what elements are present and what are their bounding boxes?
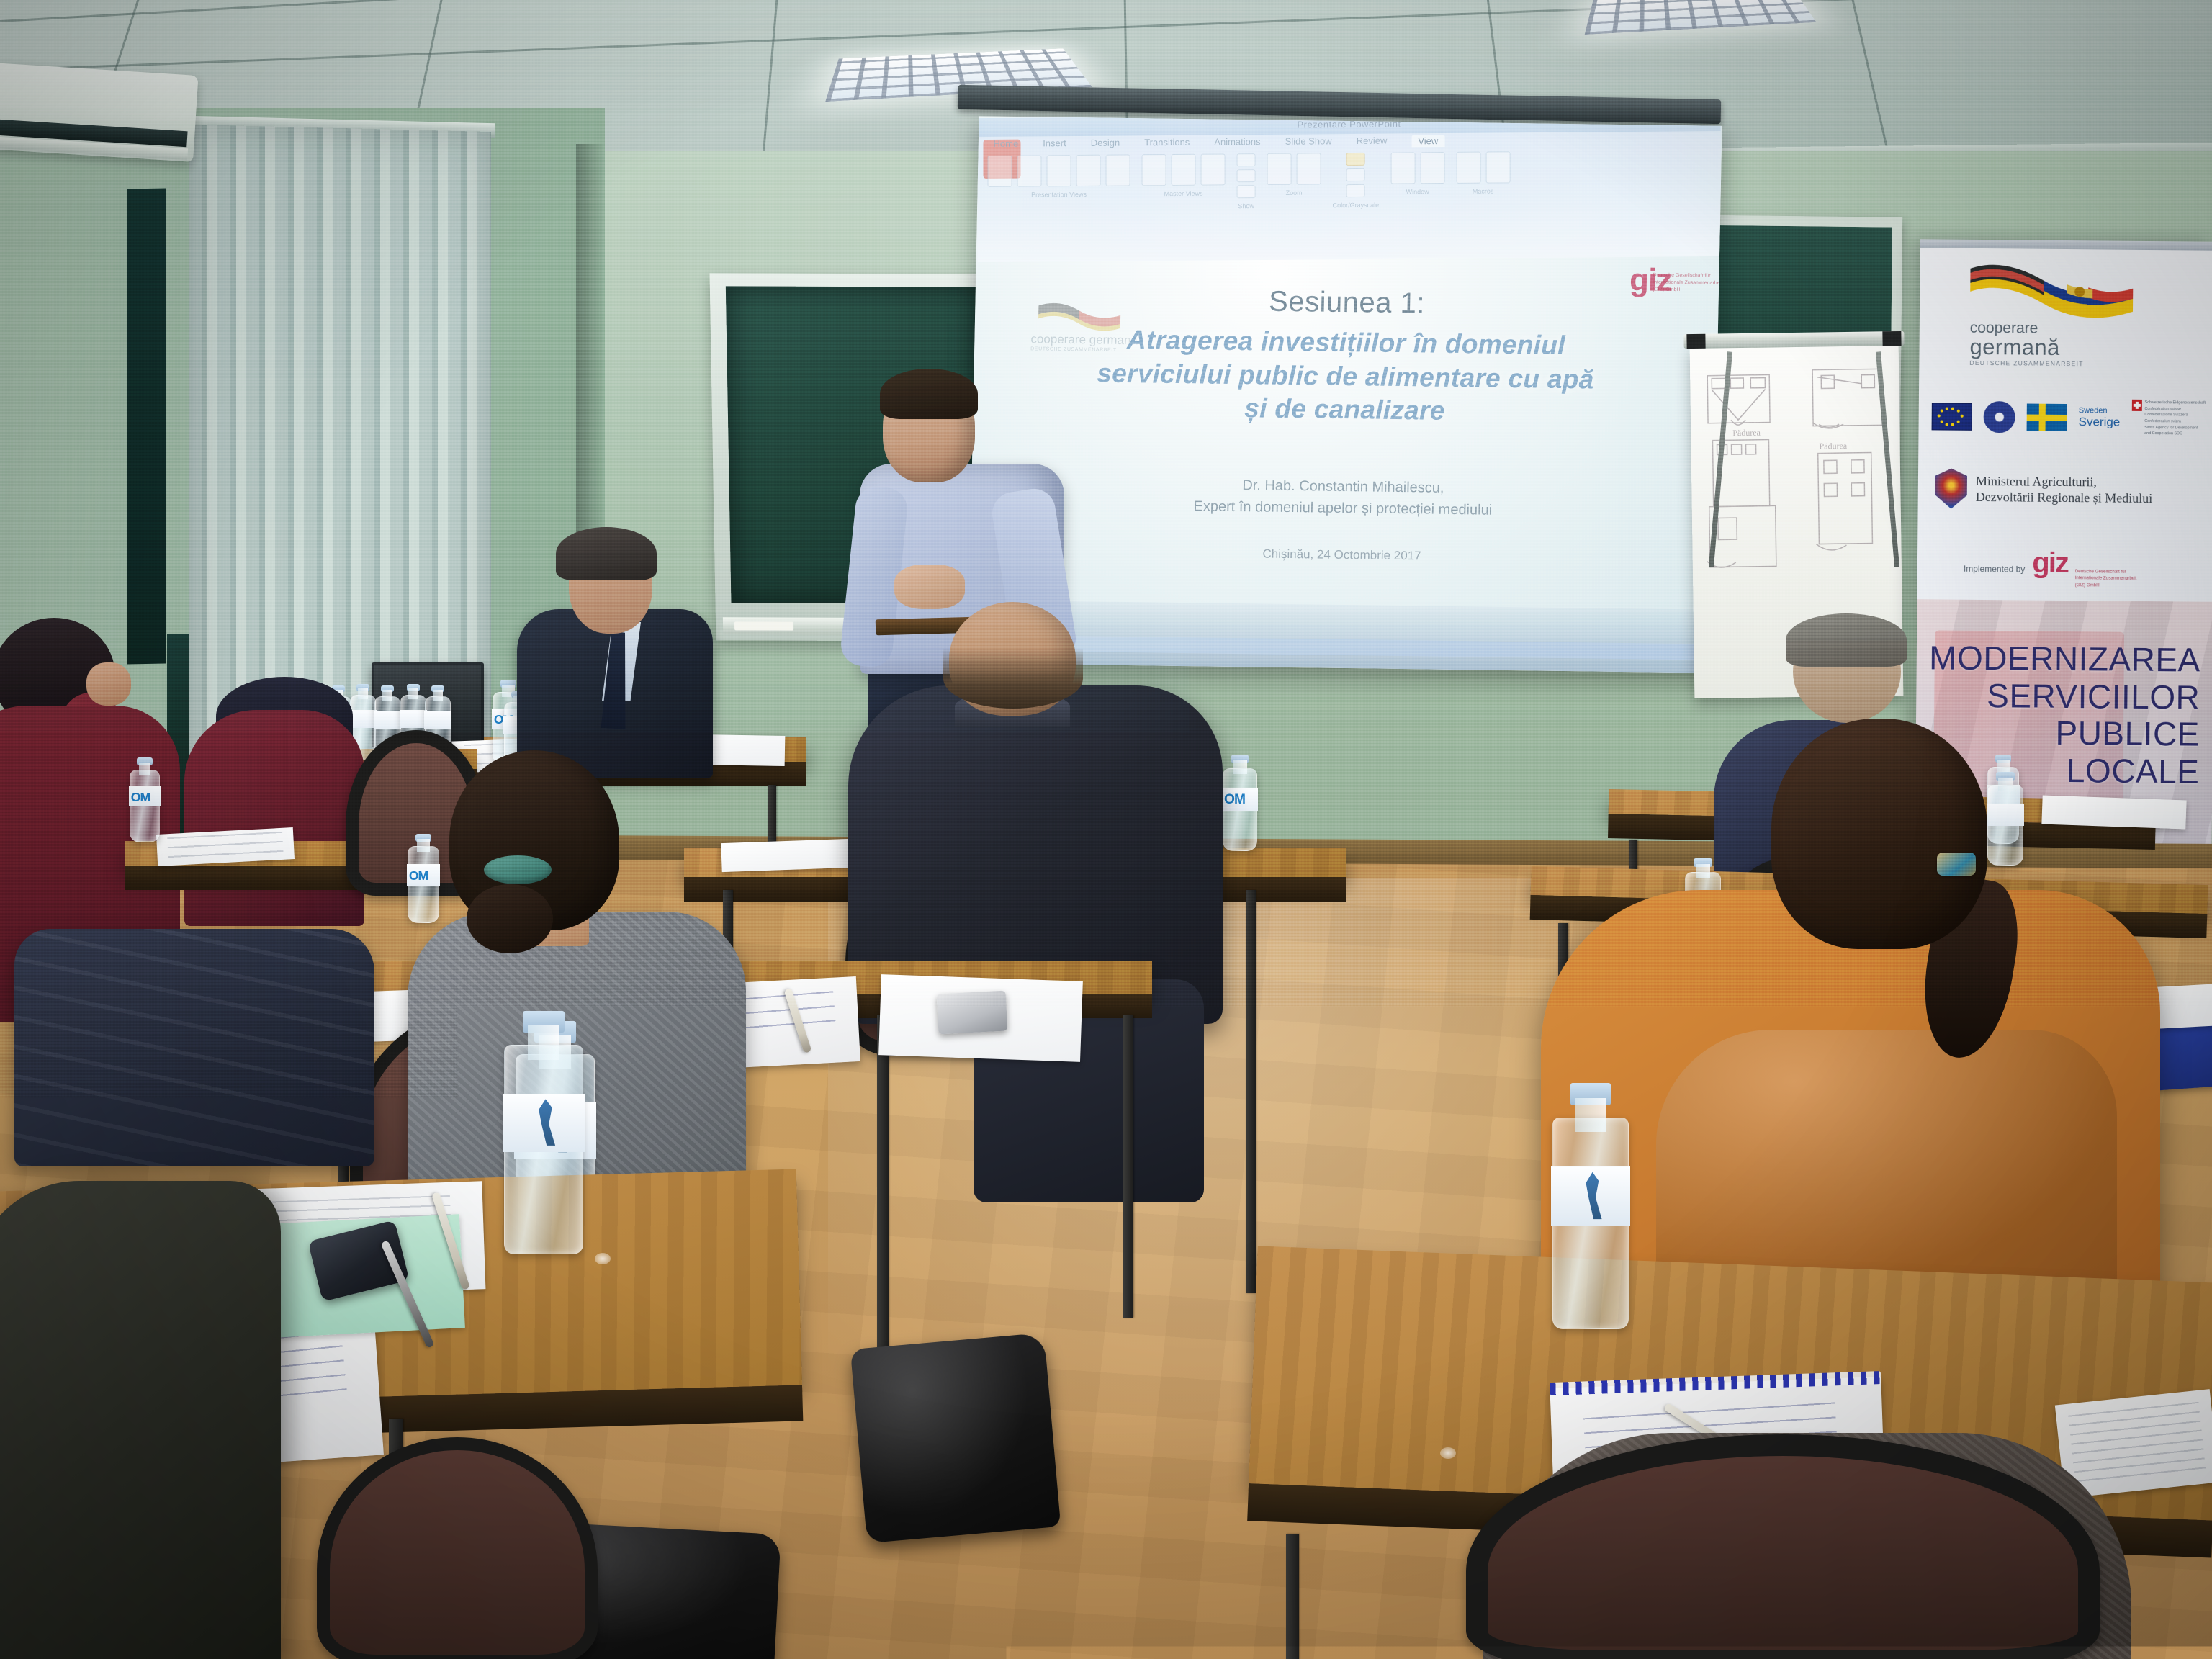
torso [184,710,364,926]
powerpoint-tab-strip[interactable]: Home Insert Design Transitions Animation… [993,135,1444,150]
ribbon-group-show[interactable]: Show [1237,153,1256,210]
implemented-by-label: Implemented by [1964,564,2026,575]
hair-bun [467,884,553,953]
swiss-agency-text: Schweizerische Eidgenossenschaft Confédé… [2144,400,2206,438]
paper-sheet [2041,796,2186,829]
banner-donor-logo-row: Sweden Sverige Schweizerische Eidgenosse… [1931,389,2212,446]
ribbon-button-zoom[interactable] [1267,153,1292,185]
ribbon-button-arrange-all[interactable] [1420,152,1444,184]
slide-author-block: Dr. Hab. Constantin Mihailescu, Expert î… [1012,472,1675,523]
hair [556,527,657,580]
tab-transitions[interactable]: Transitions [1144,137,1190,149]
german-moldovan-flags-icon [1966,263,2139,322]
sweden-label-en: Sweden [2079,406,2108,415]
ribbon-button[interactable] [1106,154,1130,186]
headline-line-1: MODERNIZAREA [1917,639,2200,679]
water-bottle[interactable]: OM [130,757,160,842]
ribbon-group-master-views[interactable]: Master Views [1142,153,1226,197]
tab-animations[interactable]: Animations [1214,136,1260,149]
water-bottle[interactable] [504,1011,583,1254]
hands [894,565,965,609]
hair [943,648,1083,709]
ribbon-button[interactable] [1142,154,1166,186]
tab-design[interactable]: Design [1091,138,1120,150]
chalk-piece [734,621,793,630]
banner-implementer-block: Implemented by giz Deutsche Gesellschaft… [1964,551,2147,589]
swiss-line-3: Confederazione Svizzera [2144,413,2188,418]
romania-seal-icon [1984,401,2015,433]
ribbon-group-label: Color/Grayscale [1333,202,1380,210]
ribbon-button-color[interactable] [1346,153,1365,166]
hair-scrunchie [484,855,552,884]
ribbon-button-black-white[interactable] [1346,184,1365,197]
ribbon-button[interactable] [1076,155,1101,186]
chair[interactable] [1466,1434,2100,1659]
headline-line-2: SERVICIILOR [1916,677,2200,716]
bag-on-floor [850,1333,1061,1544]
ribbon-button-grayscale[interactable] [1346,168,1365,181]
water-droplet [1440,1447,1456,1459]
ribbon-group-label: Window [1406,188,1429,195]
ribbon-group-label: Zoom [1286,189,1303,197]
switzerland-logo: Schweizerische Eidgenossenschaft Confédé… [2131,400,2206,438]
banner-coop-line3: DEUTSCHE ZUSAMMENARBEIT [1969,360,2083,367]
foreground-person-shoulder [0,1181,281,1659]
tab-slide-show[interactable]: Slide Show [1285,135,1332,148]
ribbon-group-window[interactable]: Window [1390,152,1444,196]
bottle-brand-label: OM [409,868,428,884]
banner-coop-line2: germană [1969,336,2084,359]
bottle-brand-label: OM [1224,792,1245,808]
table-leg [1286,1534,1299,1659]
ribbon-group-macros[interactable]: Macros [1456,151,1510,195]
ribbon-button-macros[interactable] [1485,151,1510,183]
dark-wall-recess [127,189,166,665]
swiss-line-5: Swiss Agency for Development [2144,426,2198,431]
moldova-coat-of-arms-icon [1935,468,1967,508]
paper-sheet [721,839,851,872]
powerpoint-ribbon-groups[interactable]: Presentation Views Master Views [988,150,1714,249]
hair [1786,613,1907,667]
sweden-label: Sweden Sverige [2079,407,2121,428]
ribbon-group-label: Macros [1473,187,1494,194]
sweden-label-sv: Sverige [2079,415,2121,428]
jacket-on-chair [14,929,374,1166]
ribbon-button-fit-window[interactable] [1297,153,1321,184]
water-droplet [595,1253,611,1264]
hand [86,662,131,706]
swiss-line-2: Confédération suisse [2144,407,2181,411]
projection-screen: Prezentare PowerPoint Home Insert Design… [968,116,1722,673]
ribbon-checkbox-ruler[interactable] [1237,153,1256,166]
coat-fold [1656,1030,2117,1289]
hair [880,369,978,419]
ribbon-group-label: Presentation Views [1031,191,1087,199]
chair[interactable] [317,1437,598,1659]
swiss-line-4: Confederaziun svizra [2144,419,2181,423]
bottle-brand-label: OM [131,790,150,805]
ribbon-button[interactable] [1017,155,1042,186]
ribbon-group-label: Master Views [1164,190,1203,197]
banner-top-rail [1920,239,2212,251]
seminar-room-photo: Prezentare PowerPoint Home Insert Design… [0,0,2212,1659]
smartphone[interactable] [937,991,1008,1035]
swiss-line-1: Schweizerische Eidgenossenschaft [2145,400,2206,405]
powerpoint-ribbon[interactable]: Prezentare PowerPoint Home Insert Design… [977,116,1720,262]
swiss-line-6: and Cooperation SDC [2144,431,2182,436]
tab-insert[interactable]: Insert [1043,138,1066,150]
tab-review[interactable]: Review [1357,135,1388,148]
slide-place-date: Chișinău, 24 Octombrie 2017 [1010,544,1673,567]
water-bottle[interactable] [1552,1083,1629,1329]
ribbon-button-new-window[interactable] [1390,152,1415,184]
slide-title: Atragerea investițiilor în domeniul serv… [1013,322,1678,431]
ribbon-button[interactable] [1172,154,1196,186]
ribbon-group-color-grayscale[interactable]: Color/Grayscale [1333,153,1380,209]
giz-logo-banner: giz [2032,552,2068,575]
ministry-line-2: Dezvoltării Regionale și Mediului [1976,489,2153,507]
ministry-name: Ministerul Agriculturii, Dezvoltării Reg… [1976,472,2153,506]
ribbon-checkbox-guides[interactable] [1237,185,1256,198]
giz-subtitle-banner: Deutsche Gesellschaft für Internationale… [2075,568,2147,589]
hair [1771,719,1987,949]
slide-session-heading: Sesiunea 1: [1015,282,1678,323]
banner-ministry-logo: Ministerul Agriculturii, Dezvoltării Reg… [1935,468,2153,511]
ribbon-button[interactable] [1047,155,1071,186]
hair-clip [1937,853,1976,876]
ribbon-button[interactable] [988,156,1012,187]
banner-cooperation-logo: cooperare germană DEUTSCHE ZUSAMMENARBEI… [1969,320,2084,367]
swiss-shield-icon [2131,400,2141,411]
table-leg [1246,890,1256,1293]
water-bottle[interactable]: OM [408,834,439,923]
air-conditioner-unit [0,63,198,162]
flipchart-legs [1718,351,1898,582]
ribbon-group-label: Show [1238,202,1254,210]
table-leg [1123,1015,1133,1318]
eu-flag-icon [1932,403,1972,430]
ministry-line-1: Ministerul Agriculturii, [1976,472,2153,490]
tab-home[interactable]: Home [993,138,1018,150]
tab-view[interactable]: View [1411,135,1444,147]
ribbon-group-presentation-views[interactable]: Presentation Views [988,154,1130,199]
headline-line-3: PUBLICE [1916,714,2200,753]
ribbon-checkbox-gridlines[interactable] [1237,169,1256,182]
water-bottle[interactable] [1987,772,2023,866]
ribbon-button[interactable] [1201,153,1226,185]
ribbon-button-switch-windows[interactable] [1456,152,1480,184]
water-bottle[interactable]: OM [1223,755,1257,851]
sweden-flag-icon [2027,404,2067,431]
ribbon-group-zoom[interactable]: Zoom [1267,153,1321,197]
